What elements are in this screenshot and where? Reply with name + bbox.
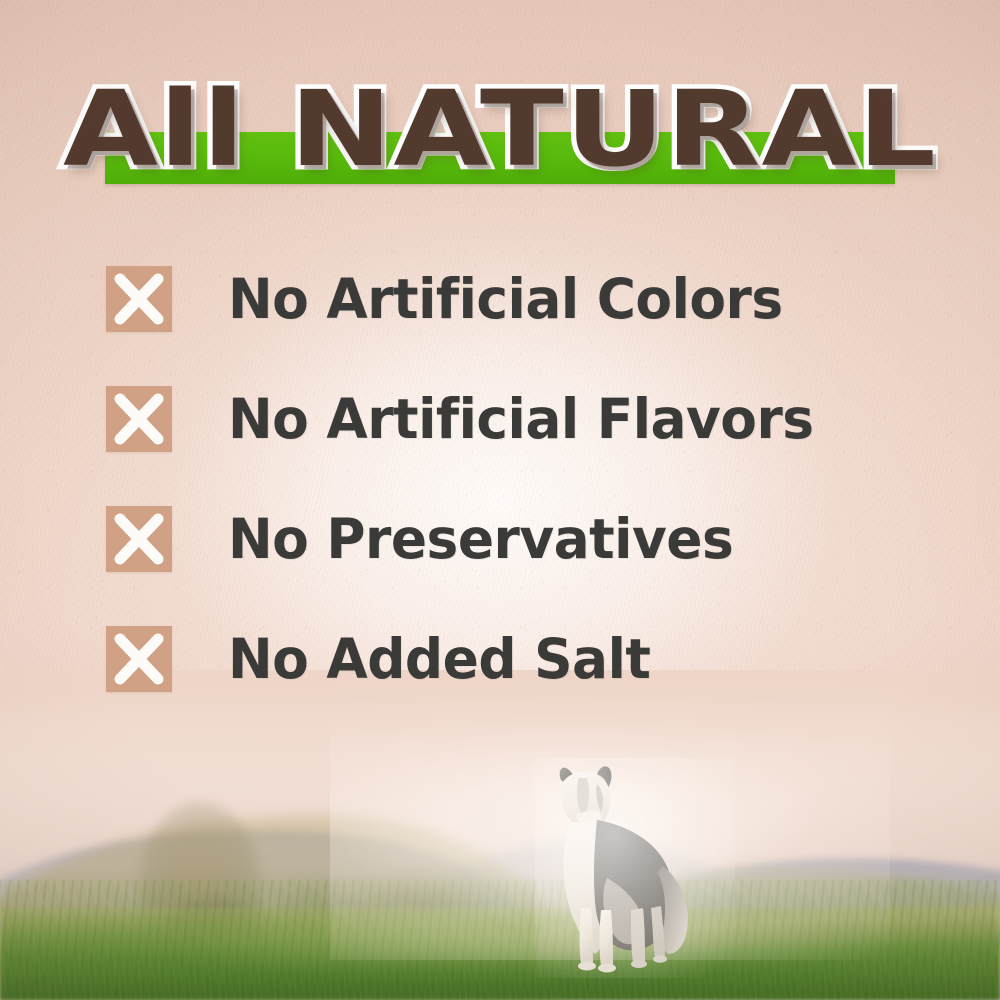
all-natural-product-poster: All NATURAL No Artificial Colors	[0, 0, 1000, 1000]
list-item-label: No Preservatives	[228, 498, 733, 580]
list-item-label: No Added Salt	[228, 618, 650, 700]
list-item: No Added Salt	[106, 618, 926, 738]
x-mark-icon	[106, 266, 172, 332]
x-mark-icon	[106, 506, 172, 572]
list-item: No Preservatives	[106, 498, 926, 618]
x-mark-icon	[106, 386, 172, 452]
claims-list: No Artificial Colors No Artificial Flavo…	[106, 258, 926, 738]
list-item-label: No Artificial Colors	[228, 258, 783, 340]
foreground-shadow	[0, 870, 1000, 1000]
dog-photo-subject	[535, 758, 735, 978]
list-item: No Artificial Colors	[106, 258, 926, 378]
x-mark-icon	[106, 626, 172, 692]
title-banner: All NATURAL	[0, 70, 1000, 200]
list-item: No Artificial Flavors	[106, 378, 926, 498]
list-item-label: No Artificial Flavors	[228, 378, 814, 460]
page-title: All NATURAL	[0, 70, 1000, 188]
